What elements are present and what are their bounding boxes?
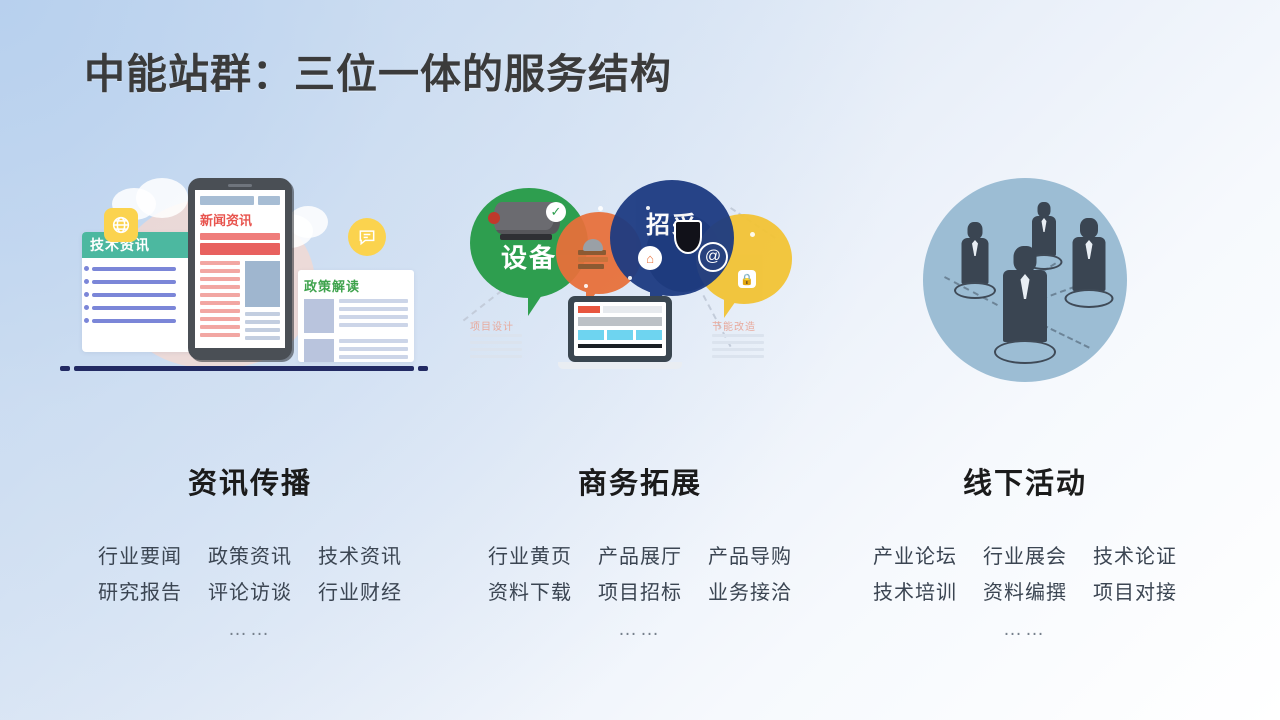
page-title: 中能站群：三位一体的服务结构 — [84, 40, 672, 100]
person-head — [1080, 218, 1098, 238]
list-line — [92, 293, 176, 297]
phone-screen: 新闻资讯 — [195, 190, 285, 348]
home-icon: ⌂ — [638, 246, 662, 270]
policy-card-title: 政策解读 — [298, 270, 414, 299]
person-base-ring — [954, 282, 996, 299]
person-head — [1014, 246, 1037, 272]
tag-item: 政策资讯 — [208, 540, 292, 569]
column-heading-offline: 线下活动 — [835, 460, 1215, 502]
tag-list-offline: 产业论坛 行业展会 技术论证 技术培训 资料编撰 项目对接 …… — [835, 540, 1215, 641]
tag-item: 行业黄页 — [488, 540, 572, 569]
screen-row — [578, 344, 662, 348]
decor-dot — [628, 276, 632, 280]
decor-dot — [750, 232, 755, 237]
person-head — [1038, 202, 1051, 217]
tag-item: 资料编撰 — [983, 576, 1067, 605]
person-head — [968, 222, 983, 239]
laptop-screen — [574, 302, 666, 356]
books-icon — [578, 250, 608, 276]
decor-dot — [646, 206, 650, 210]
decor-dot — [598, 206, 603, 211]
tag-row: 行业黄页 产品展厅 产品导购 — [488, 540, 792, 569]
person-base-ring — [994, 340, 1056, 364]
phone-speaker — [228, 184, 252, 187]
thumbnail — [304, 339, 334, 362]
speech-bubbles-illustration: 设备 招采 ✓ ⌂ @ 🔒 项目设计 — [450, 170, 830, 395]
tag-item: 行业展会 — [983, 540, 1067, 569]
laptop-lid — [568, 296, 672, 362]
screen-row — [578, 317, 662, 326]
tag-row: 技术培训 资料编撰 项目对接 — [873, 576, 1177, 605]
tag-item: 产业论坛 — [873, 540, 957, 569]
tag-ellipsis: …… — [1003, 619, 1047, 641]
tag-ellipsis: …… — [618, 619, 662, 641]
list-line — [92, 319, 176, 323]
tag-item: 资料下载 — [488, 576, 572, 605]
screen-topbar — [200, 196, 280, 205]
screen-bar — [200, 243, 280, 255]
tag-item: 行业要闻 — [98, 540, 182, 569]
check-icon: ✓ — [546, 202, 566, 222]
news-phone-illustration: 技术资讯 政策解读 — [60, 170, 440, 395]
bubble-tail — [528, 292, 544, 316]
smartphone-mockup: 新闻资讯 — [188, 178, 292, 360]
person-figure-primary — [991, 246, 1059, 362]
policy-card-row — [298, 299, 414, 333]
side-text-lines-left — [470, 334, 522, 362]
side-label-left: 项目设计 — [470, 318, 514, 333]
illustration-baseline — [74, 366, 414, 371]
list-line — [92, 280, 176, 284]
at-icon: @ — [698, 242, 728, 272]
tag-item: 业务接洽 — [708, 576, 792, 605]
slide-canvas: 中能站群：三位一体的服务结构 技术资讯 — [0, 0, 1280, 720]
text-lines — [339, 339, 408, 362]
decor-dot — [584, 284, 588, 288]
screen-row — [578, 306, 662, 313]
screen-row — [578, 330, 662, 340]
screen-bar — [200, 233, 280, 240]
bubble-equipment-label: 设备 — [501, 238, 557, 275]
tag-item: 项目对接 — [1093, 576, 1177, 605]
tag-item: 行业财经 — [318, 576, 402, 605]
tech-news-card-title: 技术资讯 — [82, 232, 200, 258]
tag-item: 技术培训 — [873, 576, 957, 605]
screen-headline: 新闻资讯 — [200, 210, 280, 229]
globe-icon — [104, 208, 138, 242]
tag-row: 产业论坛 行业展会 技术论证 — [873, 540, 1177, 569]
shield-icon — [674, 220, 702, 254]
screen-text-column — [200, 261, 240, 344]
laptop-mockup — [568, 296, 672, 370]
text-lines — [339, 299, 408, 333]
chat-bubble-icon — [348, 218, 386, 256]
side-label-right: 节能改造 — [712, 318, 756, 333]
person-base-ring — [1065, 289, 1114, 308]
cloud-shape — [136, 178, 188, 218]
bubble-tail — [724, 298, 738, 318]
side-text-lines-right — [712, 334, 764, 362]
tag-row: 研究报告 评论访谈 行业财经 — [98, 576, 402, 605]
tag-row: 行业要闻 政策资讯 技术资讯 — [98, 540, 402, 569]
tag-item: 评论访谈 — [208, 576, 292, 605]
tag-item: 技术资讯 — [318, 540, 402, 569]
policy-card: 政策解读 — [298, 270, 414, 362]
business-people-network-illustration — [835, 170, 1215, 395]
tag-item: 产品导购 — [708, 540, 792, 569]
column-offline: 线下活动 产业论坛 行业展会 技术论证 技术培训 资料编撰 项目对接 …… — [835, 170, 1215, 670]
thumbnail — [304, 299, 334, 333]
column-information: 技术资讯 政策解读 — [60, 170, 440, 670]
tag-row: 资料下载 项目招标 业务接洽 — [488, 576, 792, 605]
tag-list-information: 行业要闻 政策资讯 技术资讯 研究报告 评论访谈 行业财经 …… — [60, 540, 440, 641]
column-heading-information: 资讯传播 — [60, 460, 440, 502]
column-business: 设备 招采 ✓ ⌂ @ 🔒 项目设计 — [450, 170, 830, 670]
list-line — [92, 267, 176, 271]
column-heading-business: 商务拓展 — [450, 460, 830, 502]
person-figure — [1063, 218, 1115, 304]
tag-item: 研究报告 — [98, 576, 182, 605]
screen-image — [245, 261, 280, 307]
network-circle — [923, 178, 1127, 382]
lock-icon: 🔒 — [738, 270, 756, 288]
laptop-base — [558, 362, 682, 369]
tag-ellipsis: …… — [228, 619, 272, 641]
cloud-shape — [288, 206, 328, 238]
policy-card-row — [298, 339, 414, 362]
tech-news-card: 技术资讯 — [82, 232, 200, 352]
list-line — [92, 306, 176, 310]
tag-item: 项目招标 — [598, 576, 682, 605]
screen-image-column — [245, 261, 280, 344]
tag-list-business: 行业黄页 产品展厅 产品导购 资料下载 项目招标 业务接洽 …… — [450, 540, 830, 641]
screen-body — [200, 261, 280, 344]
tag-item: 技术论证 — [1093, 540, 1177, 569]
tag-item: 产品展厅 — [598, 540, 682, 569]
